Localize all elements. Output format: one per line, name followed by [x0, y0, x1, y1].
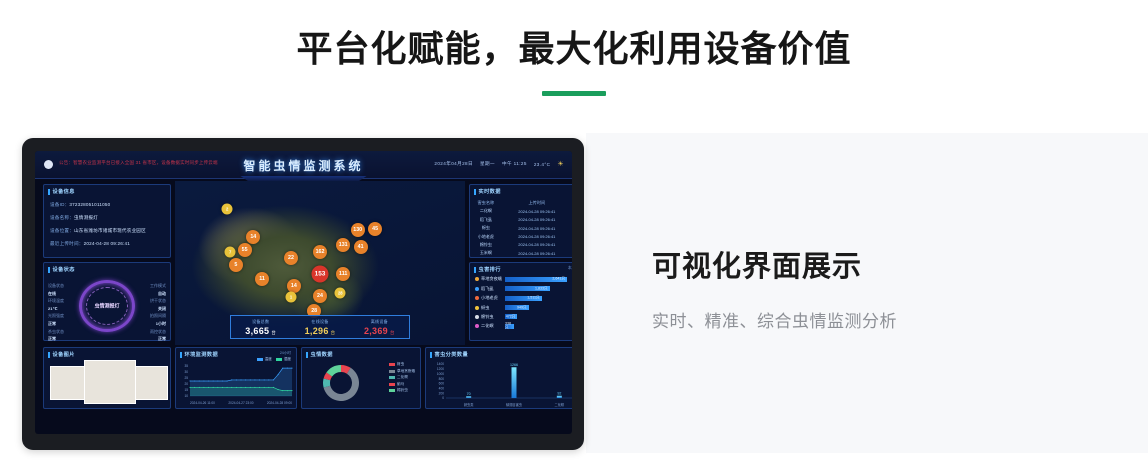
gauge-stat: 烘干状态关闭: [150, 297, 166, 312]
legend-label: 温度: [265, 357, 272, 362]
svg-text:10: 10: [184, 394, 188, 398]
ranking-value: 949只: [517, 305, 527, 310]
sun-icon: ☀: [557, 160, 564, 168]
ranking-row[interactable]: 稻飞虱1,833只: [470, 286, 572, 292]
ranking-dot-icon: [475, 296, 479, 300]
svg-text:鳞翅目害虫: 鳞翅目害虫: [506, 402, 523, 407]
device-info-line: 设备名称：虫情测报灯: [44, 215, 170, 221]
table-cell: 二化螟: [470, 207, 502, 215]
map-stats-bar: 设备总数3,665台在线设备1,296台离线设备2,369台: [230, 315, 410, 339]
page-title: 平台化赋能，最大化利用设备价值: [0, 26, 1148, 71]
pest-donut-legend: 蚜虫草地贪夜蛾二化螟蓟马棉铃虫: [389, 362, 415, 395]
ranking-row[interactable]: 草地贪夜蛾2,641只: [470, 276, 572, 282]
gauge-stat: 拍照间隔1小时: [150, 312, 166, 327]
header-time: 中午 11:25: [502, 161, 527, 167]
svg-text:2024-04-26 11:00: 2024-04-26 11:00: [190, 401, 215, 405]
dashboard-header: 公告：智慧农业监测平台已接入全国 31 省市区，设备数据实时同步上传云端 智能虫…: [35, 151, 572, 179]
monitor-frame: 公告：智慧农业监测平台已接入全国 31 省市区，设备数据实时同步上传云端 智能虫…: [22, 138, 584, 450]
table-row[interactable]: 稻飞虱2024-04-28 09:26:4118只: [470, 216, 572, 224]
gauge-stat: 雨控状态正常: [150, 328, 166, 343]
map-marker[interactable]: 14: [246, 230, 260, 244]
map-marker[interactable]: 24: [313, 289, 327, 303]
ranking-name: 小地老虎: [481, 295, 503, 301]
svg-text:二化螟: 二化螟: [555, 402, 565, 407]
svg-text:600: 600: [439, 382, 445, 386]
device-status-title: 设备状态: [44, 263, 170, 273]
header-temp: 23.4°C: [534, 162, 551, 167]
ranking-title: 虫害排行: [470, 263, 572, 273]
svg-text:15: 15: [184, 388, 188, 392]
svg-text:1400: 1400: [437, 362, 444, 366]
legend-label: 二化螟: [397, 375, 408, 380]
hero-title-block: 平台化赋能，最大化利用设备价值: [0, 0, 1148, 96]
ranking-name: 棉铃虫: [481, 314, 503, 320]
ranking-name: 草地贪夜蛾: [481, 276, 503, 282]
legend-label: 湿度: [284, 357, 291, 362]
pest-bar-title: 害虫分类数量: [426, 348, 572, 358]
table-column-header: 上传时间: [502, 198, 572, 207]
feature-card: 可视化界面展示 实时、精准、综合虫情监测分析: [586, 133, 1148, 453]
device-photos-panel: 设备图片: [43, 347, 171, 409]
gauge-stat: 环境温度21℃: [48, 297, 64, 312]
table-cell: 稻飞虱: [470, 216, 502, 224]
svg-text:1266: 1266: [510, 363, 518, 367]
svg-text:35: 35: [184, 364, 188, 368]
table-cell: 2024-04-28 09:26:41: [502, 207, 572, 215]
table-row[interactable]: 小地老虎2024-04-28 09:26:4115只: [470, 232, 572, 240]
map-marker[interactable]: 7: [225, 246, 236, 257]
china-map[interactable]: 214755511221412824281621531111314113045 …: [175, 181, 465, 345]
environment-chart-panel: 环境监测数据 24小时 温度湿度 3530252015102024-04-26 …: [175, 347, 297, 409]
device-info-panel: 设备信息 设备ID：372328051011050设备名称：虫情测报灯设备位置：…: [43, 184, 171, 258]
gauge-center-label: 虫情测报灯: [94, 303, 119, 310]
svg-text:1200: 1200: [437, 367, 444, 371]
realtime-data-panel: 实时数据 害虫名称上传时间数量 二化螟2024-04-28 09:26:4113…: [469, 184, 572, 258]
device-info-line: 设备位置：山东省潍坊市诸城市现代农业园区: [44, 228, 170, 234]
ranking-dot-icon: [475, 287, 479, 291]
legend-item: 蓟马: [389, 382, 415, 387]
ranking-row[interactable]: 二化螟338只: [470, 323, 572, 329]
pest-donut-panel: 虫情数据 蚜虫草地贪夜蛾二化螟蓟马棉铃虫: [301, 347, 421, 409]
map-stat: 离线设备2,369台: [350, 319, 409, 336]
gauge-stat: 工作模式自动: [150, 282, 166, 297]
map-marker[interactable]: 111: [336, 267, 350, 281]
map-marker[interactable]: 55: [238, 243, 252, 257]
gauge-stat: 光照强度正常: [48, 312, 64, 327]
ranking-value: 472只: [506, 314, 516, 319]
device-status-panel: 设备状态 设备状态在线环境温度21℃光照强度正常杀虫状态正常 工作模式自动烘干状…: [43, 262, 171, 341]
ranking-dot-icon: [475, 324, 479, 328]
pest-donut-title: 虫情数据: [302, 348, 420, 358]
table-cell: 小地老虎: [470, 232, 502, 240]
map-marker[interactable]: 162: [313, 245, 327, 259]
legend-swatch: [257, 358, 263, 361]
ranking-value: 1,833只: [535, 286, 548, 291]
device-info-lines: 设备ID：372328051011050设备名称：虫情测报灯设备位置：山东省潍坊…: [44, 202, 170, 247]
svg-text:2024-04-27 23:00: 2024-04-27 23:00: [228, 401, 253, 405]
status-gauge-wrap: 设备状态在线环境温度21℃光照强度正常杀虫状态正常 工作模式自动烘干状态关闭拍照…: [44, 273, 170, 335]
table-cell: 2024-04-28 09:26:41: [502, 224, 572, 232]
realtime-table: 害虫名称上传时间数量 二化螟2024-04-28 09:26:4113只稻飞虱2…: [470, 198, 572, 257]
device-info-line: 设备ID：372328051011050: [44, 202, 170, 208]
map-marker[interactable]: 130: [351, 223, 365, 237]
table-header-row: 害虫名称上传时间数量: [470, 198, 572, 207]
legend-label: 棉铃虫: [397, 388, 408, 393]
legend-label: 蚜虫: [397, 362, 404, 367]
ranking-list: 草地贪夜蛾2,641只稻飞虱1,833只小地老虎1,511只蚜虫949只棉铃虫4…: [470, 276, 572, 329]
feature-heading: 可视化界面展示: [652, 243, 897, 285]
legend-swatch: [389, 389, 395, 392]
legend-item: 温度: [257, 357, 272, 362]
table-cell: 2024-04-28 09:26:41: [502, 232, 572, 240]
content-section: 可视化界面展示 实时、精准、综合虫情监测分析 公告：智慧农业监测平台已接入全国 …: [0, 133, 1148, 473]
ranking-bar: 472只: [505, 314, 517, 319]
pest-bar-chart: 140012001000800600400200070蚜虫类1266鳞翅目害虫9…: [426, 358, 572, 408]
map-marker[interactable]: 41: [354, 240, 368, 254]
ranking-name: 蚜虫: [481, 305, 503, 311]
table-row[interactable]: 蚜虫2024-04-28 09:26:4126只: [470, 224, 572, 232]
table-cell: 玉米螟: [470, 249, 502, 257]
status-gauge-ring: 虫情测报灯: [79, 280, 135, 332]
legend-label: 蓟马: [397, 382, 404, 387]
legend-swatch: [389, 370, 395, 373]
map-stat: 设备总数3,665台: [231, 319, 290, 336]
legend-item: 棉铃虫: [389, 388, 415, 393]
svg-text:800: 800: [439, 377, 445, 381]
ranking-value: 338只: [505, 322, 512, 331]
header-date: 2024年04月28日: [434, 161, 473, 167]
table-cell: 2024-04-28 09:26:41: [502, 249, 572, 257]
header-weekday: 星期一: [480, 161, 495, 167]
pest-donut-chart: [308, 358, 374, 408]
ranking-bar: 2,641只: [505, 277, 567, 282]
svg-text:25: 25: [184, 376, 188, 380]
legend-swatch: [276, 358, 282, 361]
device-info-title: 设备信息: [44, 185, 170, 195]
map-marker[interactable]: 153: [312, 266, 329, 283]
svg-text:蚜虫类: 蚜虫类: [464, 402, 474, 407]
ranking-name: 稻飞虱: [481, 286, 503, 292]
title-underline-accent: [542, 91, 606, 96]
pest-bar-panel: 害虫分类数量 140012001000800600400200070蚜虫类126…: [425, 347, 572, 409]
ranking-note: 本月统计: [568, 266, 572, 271]
ranking-bar: 1,833只: [505, 286, 550, 291]
ranking-name: 二化螟: [481, 323, 503, 329]
environment-legend: 温度湿度: [257, 357, 291, 364]
pest-ranking-panel: 虫害排行 本月统计 草地贪夜蛾2,641只稻飞虱1,833只小地老虎1,511只…: [469, 262, 572, 341]
svg-text:20: 20: [184, 382, 188, 386]
map-marker[interactable]: 5: [229, 258, 243, 272]
ranking-row[interactable]: 小地老虎1,511只: [470, 295, 572, 301]
legend-swatch: [389, 376, 395, 379]
map-marker[interactable]: 14: [287, 279, 301, 293]
environment-note: 24小时: [280, 351, 291, 356]
table-cell: 棉铃虫: [470, 241, 502, 249]
map-marker[interactable]: 11: [255, 272, 269, 286]
legend-swatch: [389, 363, 395, 366]
table-row[interactable]: 玉米螟2024-04-28 09:26:4116只: [470, 249, 572, 257]
map-marker[interactable]: 28: [335, 287, 346, 298]
svg-text:0: 0: [442, 396, 444, 400]
table-row[interactable]: 棉铃虫2024-04-28 09:26:4111只: [470, 241, 572, 249]
svg-text:1000: 1000: [437, 372, 444, 376]
table-row[interactable]: 二化螟2024-04-28 09:26:4113只: [470, 207, 572, 215]
page-root: 平台化赋能，最大化利用设备价值 可视化界面展示 实时、精准、综合虫情监测分析 公…: [0, 0, 1148, 473]
ranking-row[interactable]: 棉铃虫472只: [470, 314, 572, 320]
environment-line-chart: 3530252015102024-04-26 11:002024-04-27 2…: [176, 358, 296, 406]
photo-carousel[interactable]: [44, 360, 170, 406]
ranking-dot-icon: [475, 277, 479, 281]
ranking-bar: 1,511只: [505, 296, 542, 301]
table-cell: 2024-04-28 09:26:41: [502, 216, 572, 224]
svg-text:30: 30: [184, 370, 188, 374]
gauge-right-labels: 工作模式自动烘干状态关闭拍照间隔1小时雨控状态正常: [150, 282, 166, 343]
ranking-bar: 338只: [505, 324, 514, 329]
photos-title: 设备图片: [44, 348, 170, 358]
legend-item: 湿度: [276, 357, 291, 362]
legend-item: 蚜虫: [389, 362, 415, 367]
map-marker[interactable]: 2: [222, 203, 233, 214]
table-cell: 2024-04-28 09:26:41: [502, 241, 572, 249]
gauge-left-labels: 设备状态在线环境温度21℃光照强度正常杀虫状态正常: [48, 282, 64, 343]
svg-text:2024-04-28 09:00: 2024-04-28 09:00: [267, 401, 292, 405]
svg-text:200: 200: [439, 391, 445, 395]
table-body: 二化螟2024-04-28 09:26:4113只稻飞虱2024-04-28 0…: [470, 207, 572, 257]
svg-text:400: 400: [439, 386, 445, 390]
dashboard-screen: 公告：智慧农业监测平台已接入全国 31 省市区，设备数据实时同步上传云端 智能虫…: [35, 151, 572, 434]
feature-text-block: 可视化界面展示 实时、精准、综合虫情监测分析: [652, 243, 897, 332]
ranking-bar: 949只: [505, 305, 529, 310]
map-marker[interactable]: 45: [368, 222, 382, 236]
ranking-dot-icon: [475, 315, 479, 319]
map-marker[interactable]: 22: [284, 251, 298, 265]
legend-item: 二化螟: [389, 375, 415, 380]
table-cell: 蚜虫: [470, 224, 502, 232]
realtime-title: 实时数据: [470, 185, 572, 195]
map-marker[interactable]: 131: [336, 238, 350, 252]
legend-swatch: [389, 383, 395, 386]
table-column-header: 害虫名称: [470, 198, 502, 207]
ranking-value: 2,641只: [552, 277, 565, 282]
svg-text:70: 70: [467, 392, 471, 396]
gauge-stat: 设备状态在线: [48, 282, 64, 297]
header-meta: 2024年04月28日 星期一 中午 11:25 23.4°C ☀: [434, 160, 564, 168]
ranking-row[interactable]: 蚜虫949只: [470, 305, 572, 311]
map-stat: 在线设备1,296台: [290, 319, 349, 336]
feature-subheading: 实时、精准、综合虫情监测分析: [652, 307, 897, 332]
gauge-stat: 杀虫状态正常: [48, 328, 64, 343]
ranking-dot-icon: [475, 306, 479, 310]
map-marker[interactable]: 1: [286, 292, 297, 303]
legend-label: 草地贪夜蛾: [397, 369, 415, 374]
ranking-value: 1,511只: [527, 296, 539, 301]
legend-item: 草地贪夜蛾: [389, 369, 415, 374]
device-info-line: 最近上传时间：2024-04-28 09:26:41: [44, 241, 170, 247]
svg-text:92: 92: [557, 391, 561, 395]
photo-thumb[interactable]: [84, 360, 136, 404]
